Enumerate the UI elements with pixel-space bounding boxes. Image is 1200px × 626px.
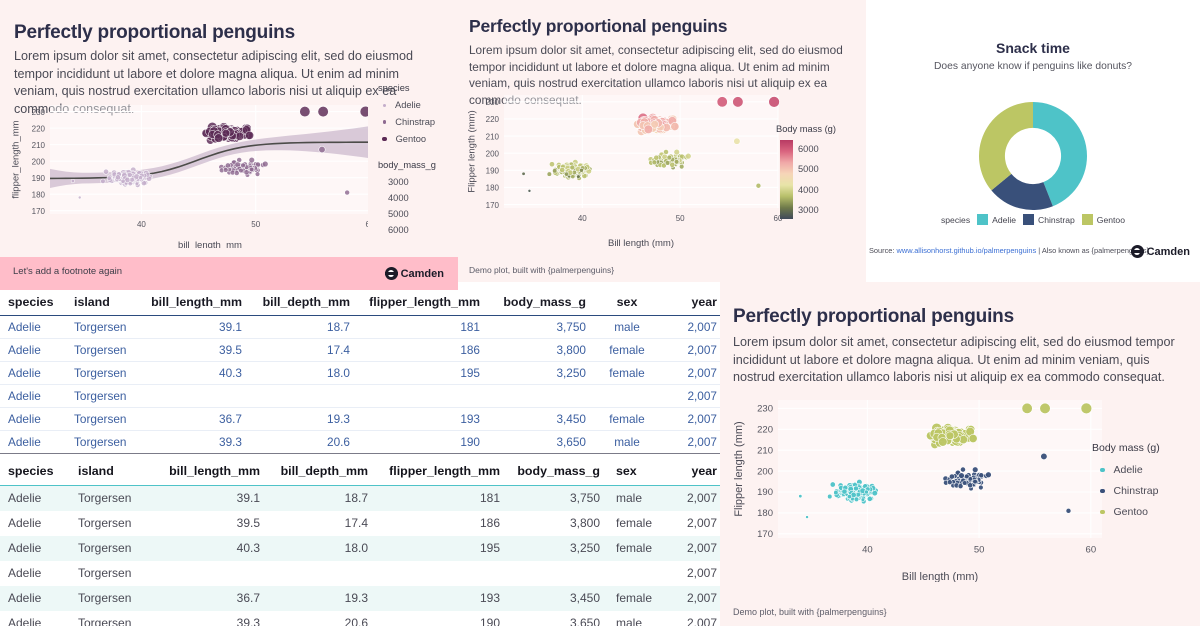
svg-text:50: 50 bbox=[974, 545, 985, 556]
svg-text:flipper_length_mm: flipper_length_mm bbox=[11, 120, 22, 198]
legend-item-gentoo[interactable]: Gentoo bbox=[378, 134, 435, 144]
cell-year: 2,007 bbox=[660, 431, 725, 454]
cell-flipper_length_mm: 193 bbox=[358, 408, 488, 431]
panel4-title: Perfectly proportional penguins bbox=[733, 306, 1014, 328]
legend-item-chinstrap[interactable]: Chinstrap bbox=[378, 117, 435, 127]
table-row: AdelieTorgersen2,007 bbox=[0, 385, 725, 408]
cell-sex bbox=[594, 385, 660, 408]
cell-body_mass_g: 3,450 bbox=[488, 408, 594, 431]
cell-flipper_length_mm: 195 bbox=[376, 536, 508, 561]
cell-flipper_length_mm: 186 bbox=[358, 339, 488, 362]
table-row: AdelieTorgersen36.719.31933,450female2,0… bbox=[0, 408, 725, 431]
legend-size-4000: 4000 bbox=[388, 193, 436, 203]
cell-bill_depth_mm bbox=[250, 385, 358, 408]
cell-flipper_length_mm: 181 bbox=[376, 486, 508, 511]
svg-text:Bill length (mm): Bill length (mm) bbox=[608, 238, 674, 248]
col-year[interactable]: year bbox=[660, 290, 725, 316]
panel2-scatter-chart: 170180190200210220230405060Bill length (… bbox=[464, 88, 784, 248]
cell-sex: female bbox=[594, 362, 660, 385]
panel4-label-gentoo: Gentoo bbox=[1114, 506, 1148, 518]
cell-species: Adelie bbox=[0, 431, 66, 454]
cell-sex: female bbox=[608, 511, 666, 536]
cell-island: Torgersen bbox=[66, 339, 140, 362]
donut-source-line: Source: www.allisonhorst.github.io/palme… bbox=[869, 246, 1149, 255]
cell-island: Torgersen bbox=[66, 385, 140, 408]
cell-species: Adelie bbox=[0, 611, 70, 626]
cell-bill_length_mm: 40.3 bbox=[140, 362, 250, 385]
cell-body_mass_g: 3,750 bbox=[508, 486, 608, 511]
cell-bill_depth_mm: 19.3 bbox=[250, 408, 358, 431]
cell-island: Torgersen bbox=[70, 536, 158, 561]
panel4-legend-item-chinstrap[interactable]: Chinstrap bbox=[1092, 485, 1160, 497]
col-species[interactable]: species bbox=[0, 458, 70, 486]
svg-text:230: 230 bbox=[757, 404, 773, 415]
cell-sex: male bbox=[594, 316, 660, 339]
donut-swatch-gentoo bbox=[1082, 214, 1093, 225]
cell-body_mass_g bbox=[508, 561, 608, 586]
donut-title: Snack time bbox=[866, 40, 1200, 56]
svg-text:190: 190 bbox=[757, 487, 773, 498]
svg-text:210: 210 bbox=[486, 132, 500, 141]
svg-text:Bill length (mm): Bill length (mm) bbox=[902, 571, 978, 582]
col-year[interactable]: year bbox=[666, 458, 725, 486]
cell-year: 2,007 bbox=[660, 362, 725, 385]
cell-island: Torgersen bbox=[70, 586, 158, 611]
col-island[interactable]: island bbox=[70, 458, 158, 486]
col-island[interactable]: island bbox=[66, 290, 140, 316]
col-bill-length[interactable]: bill_length_mm bbox=[158, 458, 268, 486]
svg-text:170: 170 bbox=[486, 201, 500, 210]
cell-bill_length_mm: 36.7 bbox=[158, 586, 268, 611]
legend-size-5000: 5000 bbox=[388, 209, 436, 219]
cell-species: Adelie bbox=[0, 385, 66, 408]
cell-year: 2,007 bbox=[666, 586, 725, 611]
col-bill-depth[interactable]: bill_depth_mm bbox=[268, 458, 376, 486]
panel2-legend-colorbar: Body mass (g) 6000 5000 4000 3000 bbox=[776, 124, 836, 219]
cell-year: 2,007 bbox=[666, 536, 725, 561]
donut-legend-item-chinstrap[interactable]: Chinstrap bbox=[1023, 214, 1075, 225]
panel-penguins-species-size: Perfectly proportional penguins Lorem ip… bbox=[0, 0, 458, 290]
svg-text:210: 210 bbox=[32, 141, 46, 150]
cell-body_mass_g: 3,800 bbox=[488, 339, 594, 362]
cell-year: 2,007 bbox=[660, 385, 725, 408]
cell-island: Torgersen bbox=[70, 611, 158, 626]
panel4-legend: Body mass (g) Adelie Chinstrap Gentoo bbox=[1092, 442, 1160, 518]
panel4-dot-chinstrap bbox=[1100, 489, 1105, 494]
cell-bill_depth_mm: 19.3 bbox=[268, 586, 376, 611]
cell-body_mass_g: 3,650 bbox=[488, 431, 594, 454]
panel-snack-time-donut: Snack time Does anyone know if penguins … bbox=[866, 0, 1200, 282]
svg-text:180: 180 bbox=[32, 190, 46, 199]
legend-size-6000: 6000 bbox=[388, 225, 436, 235]
table-row: AdelieTorgersen39.320.61903,650male2,007 bbox=[0, 611, 725, 626]
svg-text:40: 40 bbox=[137, 220, 146, 229]
cell-year: 2,007 bbox=[666, 561, 725, 586]
cell-bill_length_mm bbox=[158, 561, 268, 586]
cell-body_mass_g bbox=[488, 385, 594, 408]
legend-label-chinstrap: Chinstrap bbox=[395, 117, 435, 127]
panel4-dot-gentoo bbox=[1100, 510, 1105, 515]
cell-island: Torgersen bbox=[70, 511, 158, 536]
svg-text:40: 40 bbox=[578, 214, 587, 223]
panel4-legend-item-gentoo[interactable]: Gentoo bbox=[1092, 506, 1160, 518]
cell-year: 2,007 bbox=[660, 339, 725, 362]
svg-text:170: 170 bbox=[32, 207, 46, 216]
table-row: AdelieTorgersen40.318.01953,250female2,0… bbox=[0, 362, 725, 385]
svg-text:190: 190 bbox=[486, 167, 500, 176]
legend-size-3000: 3000 bbox=[388, 177, 436, 187]
panel4-legend-title: Body mass (g) bbox=[1092, 442, 1160, 454]
col-sex[interactable]: sex bbox=[608, 458, 666, 486]
panel4-scatter-chart: 170180190200210220230405060Bill length (… bbox=[730, 392, 1110, 582]
donut-legend-item-gentoo[interactable]: Gentoo bbox=[1082, 214, 1125, 225]
svg-text:50: 50 bbox=[676, 214, 685, 223]
cell-body_mass_g: 3,450 bbox=[508, 586, 608, 611]
cell-sex: male bbox=[594, 431, 660, 454]
donut-subtitle: Does anyone know if penguins like donuts… bbox=[866, 60, 1200, 74]
cell-bill_length_mm: 39.5 bbox=[140, 339, 250, 362]
legend-dot-gentoo bbox=[382, 137, 386, 141]
data-table: species island bill_length_mm bill_depth… bbox=[0, 458, 725, 626]
cell-bill_depth_mm: 18.7 bbox=[268, 486, 376, 511]
svg-text:180: 180 bbox=[486, 184, 500, 193]
cell-body_mass_g: 3,800 bbox=[508, 511, 608, 536]
table-row: AdelieTorgersen40.318.01953,250female2,0… bbox=[0, 536, 725, 561]
cell-sex: male bbox=[608, 486, 666, 511]
cell-bill_depth_mm: 17.4 bbox=[250, 339, 358, 362]
cell-year: 2,007 bbox=[666, 611, 725, 626]
penguins-table-blue: species island bill_length_mm bill_depth… bbox=[0, 290, 725, 458]
cell-sex: female bbox=[608, 586, 666, 611]
cell-island: Torgersen bbox=[66, 316, 140, 339]
cell-species: Adelie bbox=[0, 561, 70, 586]
panel1-scatter-chart: 170180190200210220230405060bill_length_m… bbox=[8, 98, 368, 248]
table-row: AdelieTorgersen39.118.71813,750male2,007 bbox=[0, 316, 725, 339]
cell-species: Adelie bbox=[0, 511, 70, 536]
cell-island: Torgersen bbox=[66, 431, 140, 454]
panel1-legend-bodymass: body_mass_g 3000 4000 5000 6000 bbox=[378, 160, 436, 235]
svg-text:bill_length_mm: bill_length_mm bbox=[178, 240, 242, 248]
cell-species: Adelie bbox=[0, 536, 70, 561]
cell-flipper_length_mm bbox=[358, 385, 488, 408]
panel2-title: Perfectly proportional penguins bbox=[469, 16, 727, 37]
col-body-mass[interactable]: body_mass_g bbox=[508, 458, 608, 486]
penguins-table-teal: species island bill_length_mm bill_depth… bbox=[0, 458, 725, 626]
dashboard-root: Perfectly proportional penguins Lorem ip… bbox=[0, 0, 1200, 626]
legend-size-title: body_mass_g bbox=[378, 160, 436, 170]
cell-bill_depth_mm bbox=[268, 561, 376, 586]
col-flipper-length[interactable]: flipper_length_mm bbox=[358, 290, 488, 316]
cell-flipper_length_mm: 195 bbox=[358, 362, 488, 385]
donut-chart bbox=[977, 100, 1089, 212]
svg-text:60: 60 bbox=[366, 220, 368, 229]
svg-text:190: 190 bbox=[32, 174, 46, 183]
panel4-label-adelie: Adelie bbox=[1114, 464, 1143, 476]
table-row: AdelieTorgersen39.320.61903,650male2,007 bbox=[0, 431, 725, 454]
cell-bill_length_mm: 39.3 bbox=[140, 431, 250, 454]
cell-bill_length_mm: 39.1 bbox=[140, 316, 250, 339]
cell-bill_length_mm: 39.1 bbox=[158, 486, 268, 511]
cell-body_mass_g: 3,250 bbox=[488, 362, 594, 385]
cell-year: 2,007 bbox=[660, 408, 725, 431]
legend-label-gentoo: Gentoo bbox=[396, 134, 427, 144]
cell-bill_length_mm: 39.3 bbox=[158, 611, 268, 626]
source-link[interactable]: www.allisonhorst.github.io/palmerpenguin… bbox=[897, 246, 1037, 255]
svg-text:230: 230 bbox=[32, 108, 46, 117]
col-flipper-length[interactable]: flipper_length_mm bbox=[376, 458, 508, 486]
donut-legend: species Adelie Chinstrap Gentoo bbox=[866, 214, 1200, 225]
svg-text:170: 170 bbox=[757, 529, 773, 540]
donut-legend-label-chinstrap: Chinstrap bbox=[1038, 215, 1075, 225]
donut-legend-label-adelie: Adelie bbox=[992, 215, 1016, 225]
cell-bill_depth_mm: 18.0 bbox=[250, 362, 358, 385]
panel4-label-chinstrap: Chinstrap bbox=[1114, 485, 1159, 497]
svg-text:50: 50 bbox=[251, 220, 260, 229]
cell-species: Adelie bbox=[0, 408, 66, 431]
table-row: AdelieTorgersen39.517.41863,800female2,0… bbox=[0, 339, 725, 362]
table-header-row: species island bill_length_mm bill_depth… bbox=[0, 458, 725, 486]
colorbar-tick-6000: 6000 bbox=[798, 144, 819, 154]
cell-species: Adelie bbox=[0, 586, 70, 611]
cell-flipper_length_mm bbox=[376, 561, 508, 586]
cell-island: Torgersen bbox=[66, 408, 140, 431]
camden-logo: Camden bbox=[385, 267, 444, 280]
legend-item-adelie[interactable]: Adelie bbox=[378, 100, 435, 110]
panel4-body-text: Lorem ipsum dolor sit amet, consectetur … bbox=[733, 334, 1185, 387]
svg-text:Flipper length (mm): Flipper length (mm) bbox=[733, 421, 745, 516]
table-row: AdelieTorgersen36.719.31933,450female2,0… bbox=[0, 586, 725, 611]
cell-bill_depth_mm: 18.0 bbox=[268, 536, 376, 561]
col-bill-length[interactable]: bill_length_mm bbox=[140, 290, 250, 316]
svg-text:200: 200 bbox=[757, 466, 773, 477]
camden-mark-icon bbox=[385, 267, 398, 280]
cell-bill_depth_mm: 20.6 bbox=[250, 431, 358, 454]
legend-dot-adelie bbox=[383, 104, 386, 107]
svg-text:40: 40 bbox=[862, 545, 873, 556]
donut-legend-title: species bbox=[941, 215, 970, 225]
donut-swatch-adelie bbox=[977, 214, 988, 225]
cell-body_mass_g: 3,750 bbox=[488, 316, 594, 339]
data-table: species island bill_length_mm bill_depth… bbox=[0, 290, 725, 454]
panel-penguins-bodymass-gradient: Perfectly proportional penguins Lorem ip… bbox=[458, 0, 866, 282]
svg-text:Flipper length (mm): Flipper length (mm) bbox=[467, 110, 478, 192]
camden-wordmark: Camden bbox=[1147, 246, 1190, 258]
colorbar-tick-4000: 4000 bbox=[798, 185, 819, 195]
colorbar-tick-5000: 5000 bbox=[798, 164, 819, 174]
table-row: AdelieTorgersen39.118.71813,750male2,007 bbox=[0, 486, 725, 511]
cell-sex bbox=[608, 561, 666, 586]
cell-bill_depth_mm: 18.7 bbox=[250, 316, 358, 339]
cell-year: 2,007 bbox=[666, 486, 725, 511]
camden-wordmark: Camden bbox=[401, 268, 444, 280]
cell-species: Adelie bbox=[0, 486, 70, 511]
panel1-title: Perfectly proportional penguins bbox=[14, 22, 295, 44]
svg-text:200: 200 bbox=[486, 149, 500, 158]
legend-dot-chinstrap bbox=[383, 120, 387, 124]
svg-text:220: 220 bbox=[32, 124, 46, 133]
svg-text:230: 230 bbox=[486, 98, 500, 107]
donut-legend-label-gentoo: Gentoo bbox=[1097, 215, 1125, 225]
source-prefix: Source: bbox=[869, 246, 897, 255]
col-sex[interactable]: sex bbox=[594, 290, 660, 316]
panel1-footnote: Let's add a footnote again bbox=[13, 266, 122, 277]
cell-bill_length_mm: 40.3 bbox=[158, 536, 268, 561]
cell-species: Adelie bbox=[0, 339, 66, 362]
colorbar-title: Body mass (g) bbox=[776, 124, 836, 134]
cell-year: 2,007 bbox=[660, 316, 725, 339]
cell-sex: male bbox=[608, 611, 666, 626]
cell-species: Adelie bbox=[0, 362, 66, 385]
panel-penguins-species-colored: Perfectly proportional penguins Lorem ip… bbox=[720, 282, 1200, 626]
cell-species: Adelie bbox=[0, 316, 66, 339]
col-bill-depth[interactable]: bill_depth_mm bbox=[250, 290, 358, 316]
svg-text:200: 200 bbox=[32, 157, 46, 166]
cell-island: Torgersen bbox=[66, 362, 140, 385]
col-species[interactable]: species bbox=[0, 290, 66, 316]
cell-bill_depth_mm: 17.4 bbox=[268, 511, 376, 536]
svg-text:180: 180 bbox=[757, 508, 773, 519]
cell-island: Torgersen bbox=[70, 486, 158, 511]
panel1-legend-species: species Adelie Chinstrap Gentoo bbox=[378, 83, 435, 144]
cell-island: Torgersen bbox=[70, 561, 158, 586]
cell-body_mass_g: 3,650 bbox=[508, 611, 608, 626]
cell-bill_length_mm: 36.7 bbox=[140, 408, 250, 431]
cell-flipper_length_mm: 193 bbox=[376, 586, 508, 611]
cell-body_mass_g: 3,250 bbox=[508, 536, 608, 561]
colorbar-tick-3000: 3000 bbox=[798, 205, 819, 215]
panel4-dot-adelie bbox=[1100, 468, 1105, 473]
legend-species-title: species bbox=[378, 83, 435, 93]
svg-text:210: 210 bbox=[757, 445, 773, 456]
panel4-legend-item-adelie[interactable]: Adelie bbox=[1092, 464, 1160, 476]
cell-year: 2,007 bbox=[666, 511, 725, 536]
cell-bill_depth_mm: 20.6 bbox=[268, 611, 376, 626]
cell-bill_length_mm bbox=[140, 385, 250, 408]
cell-sex: female bbox=[594, 339, 660, 362]
table-row: AdelieTorgersen39.517.41863,800female2,0… bbox=[0, 511, 725, 536]
svg-text:60: 60 bbox=[1086, 545, 1097, 556]
panel4-footnote: Demo plot, built with {palmerpenguins} bbox=[733, 607, 887, 617]
cell-sex: female bbox=[608, 536, 666, 561]
table-header-row: species island bill_length_mm bill_depth… bbox=[0, 290, 725, 316]
svg-text:220: 220 bbox=[757, 424, 773, 435]
svg-text:220: 220 bbox=[486, 115, 500, 124]
camden-mark-icon bbox=[1131, 245, 1144, 258]
camden-logo-donut: Camden bbox=[1131, 245, 1190, 258]
cell-bill_length_mm: 39.5 bbox=[158, 511, 268, 536]
panel1-footer-bar: Let's add a footnote again Camden bbox=[0, 257, 458, 290]
panel2-footnote: Demo plot, built with {palmerpenguins} bbox=[469, 265, 614, 275]
col-body-mass[interactable]: body_mass_g bbox=[488, 290, 594, 316]
table-row: AdelieTorgersen2,007 bbox=[0, 561, 725, 586]
cell-flipper_length_mm: 186 bbox=[376, 511, 508, 536]
donut-legend-item-adelie[interactable]: Adelie bbox=[977, 214, 1016, 225]
donut-swatch-chinstrap bbox=[1023, 214, 1034, 225]
colorbar-gradient bbox=[780, 140, 793, 219]
legend-label-adelie: Adelie bbox=[395, 100, 421, 110]
cell-sex: female bbox=[594, 408, 660, 431]
cell-flipper_length_mm: 190 bbox=[358, 431, 488, 454]
cell-flipper_length_mm: 181 bbox=[358, 316, 488, 339]
cell-flipper_length_mm: 190 bbox=[376, 611, 508, 626]
